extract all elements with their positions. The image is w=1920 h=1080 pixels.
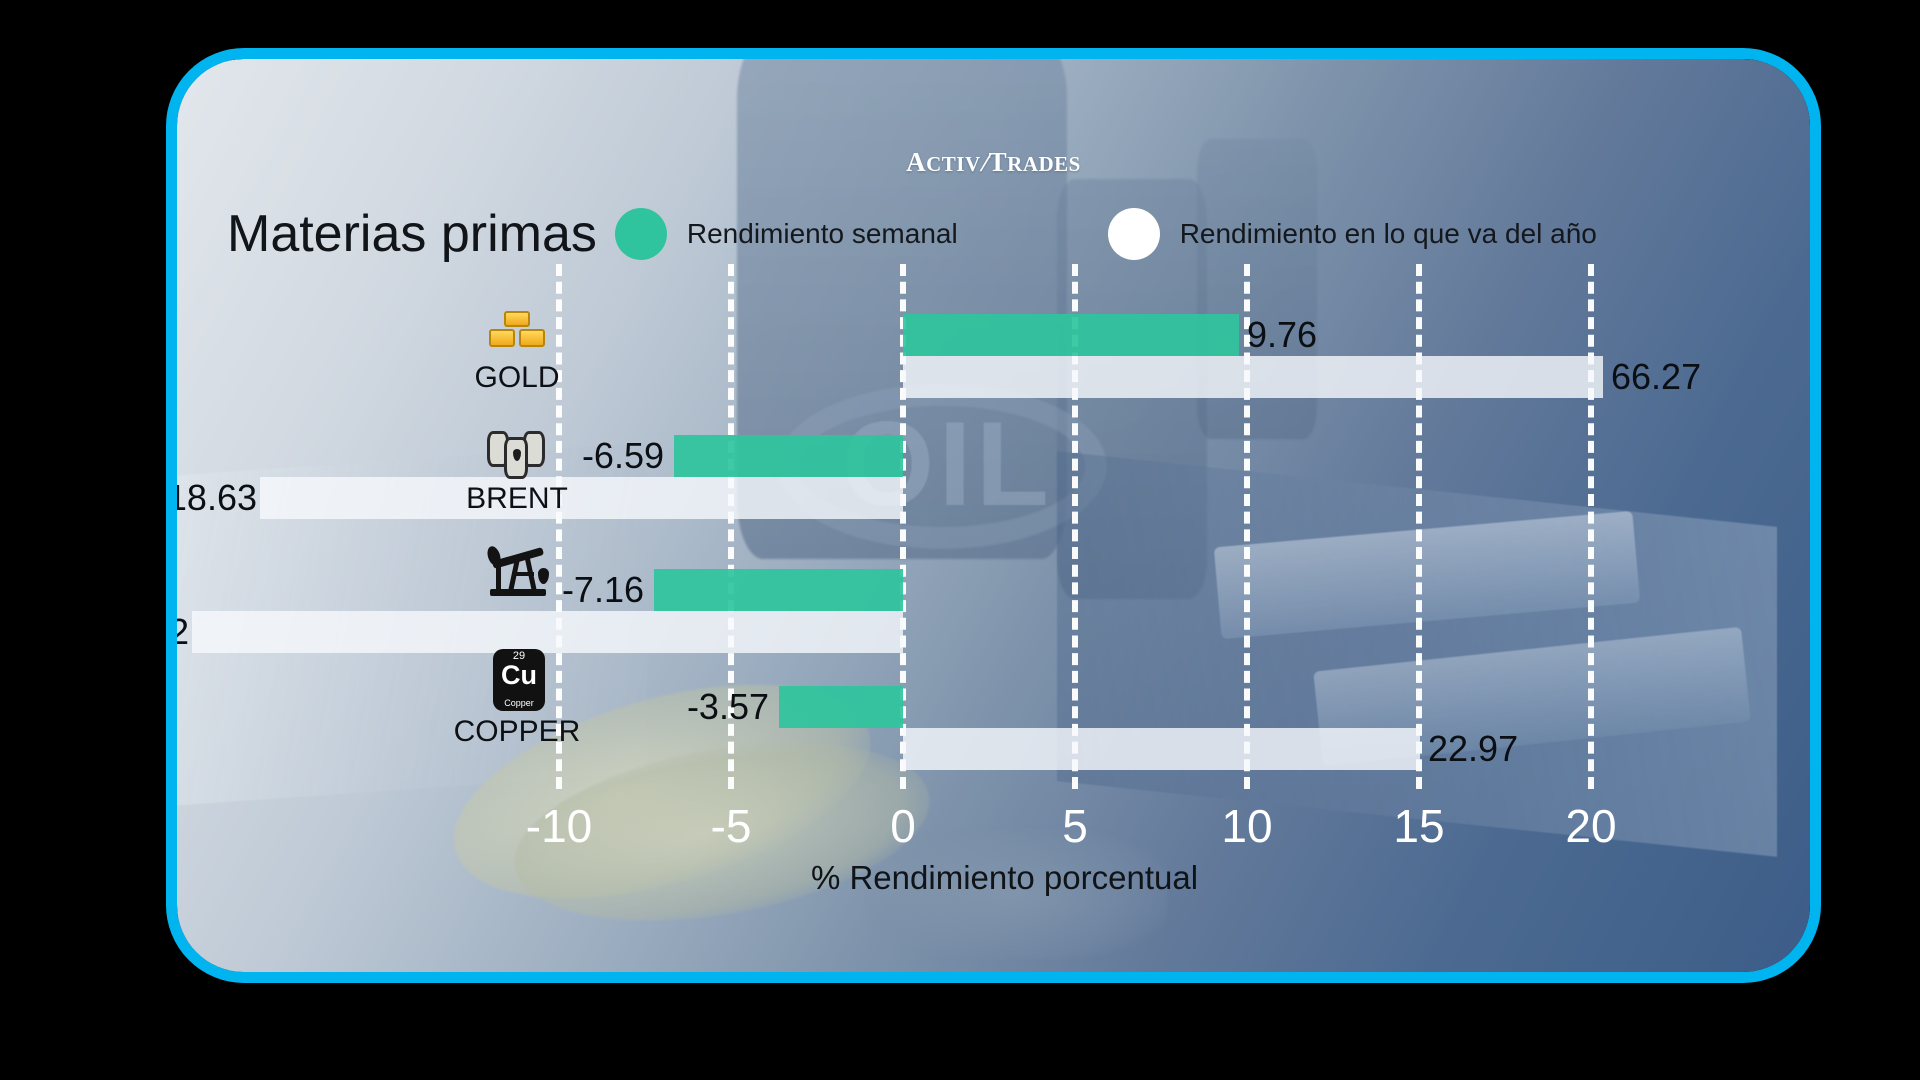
legend-label-weekly: Rendimiento semanal [687, 218, 958, 250]
gold-bars-glyph [487, 309, 547, 349]
xtick-10: 10 [1187, 799, 1307, 853]
value-gold-ytd: 66.27 [1611, 356, 1701, 398]
bar-gold-ytd[interactable] [903, 356, 1603, 398]
header-bar: Materias primas Rendimiento semanal Rend… [227, 199, 1787, 269]
value-brent-weekly: -6.59 [474, 435, 664, 477]
gridline-15 [1416, 264, 1422, 789]
legend-item-weekly: Rendimiento semanal [615, 208, 958, 260]
chart-plot-area: -10 -5 0 5 10 15 20 % Rendimiento porcen… [177, 59, 1810, 972]
xtick--5: -5 [671, 799, 791, 853]
xtick-15: 15 [1359, 799, 1479, 853]
bar-crude-weekly[interactable] [654, 569, 903, 611]
legend-label-ytd: Rendimiento en lo que va del año [1180, 218, 1597, 250]
value-copper-weekly: -3.57 [579, 686, 769, 728]
logo-text-ctiv: CTIV [926, 152, 981, 176]
gridline-20 [1588, 264, 1594, 789]
copper-element-badge: 29 Cu Copper [493, 649, 545, 711]
legend-dot-weekly-icon [615, 208, 667, 260]
copper-name: Copper [493, 699, 545, 708]
value-crude-ytd: -20.62 [177, 611, 189, 653]
bar-gold-weekly[interactable] [903, 314, 1239, 356]
bar-crude-ytd[interactable] [192, 611, 903, 653]
xtick-20: 20 [1531, 799, 1651, 853]
x-axis-title: % Rendimiento porcentual [177, 859, 1810, 897]
value-brent-ytd: -18.63 [177, 477, 257, 519]
xtick-0: 0 [843, 799, 963, 853]
xtick-5: 5 [1015, 799, 1135, 853]
bar-brent-weekly[interactable] [674, 435, 903, 477]
chart-card-frame: OIL ACTIV/TRADES Materias primas Rendimi… [166, 48, 1821, 983]
screenshot-stage: OIL ACTIV/TRADES Materias primas Rendimi… [0, 0, 1920, 1080]
logo-text-a: A [906, 147, 926, 177]
copper-cu-icon: 29 Cu Copper [459, 649, 579, 718]
xtick--10: -10 [499, 799, 619, 853]
gold-bars-icon [457, 309, 577, 356]
activtrades-logo: ACTIV/TRADES [177, 147, 1810, 178]
legend-item-ytd: Rendimiento en lo que va del año [1108, 208, 1597, 260]
value-copper-ytd: 22.97 [1428, 728, 1518, 770]
bar-copper-ytd[interactable] [903, 728, 1420, 770]
logo-text-rades: RADES [1007, 152, 1081, 176]
copper-symbol: Cu [493, 662, 545, 689]
value-gold-weekly: 9.76 [1247, 314, 1317, 356]
category-label-brent: BRENT [387, 482, 647, 516]
legend-dot-ytd-icon [1108, 208, 1160, 260]
value-crude-weekly: -7.16 [454, 569, 644, 611]
category-label-gold: GOLD [387, 361, 647, 395]
chart-card-body: OIL ACTIV/TRADES Materias primas Rendimi… [177, 59, 1810, 972]
bar-copper-weekly[interactable] [779, 686, 903, 728]
page-title: Materias primas [227, 204, 597, 264]
